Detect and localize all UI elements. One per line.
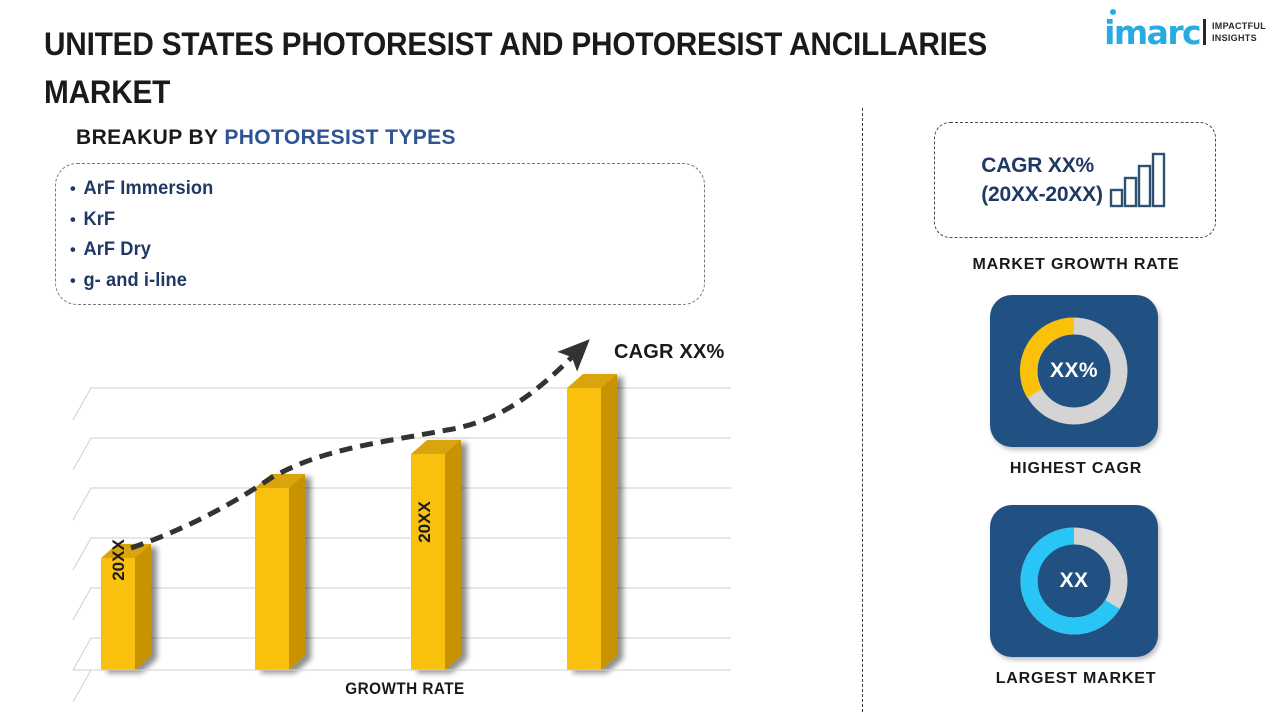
bar-label-3: 20XX xyxy=(109,539,128,581)
page-title: UNITED STATES PHOTORESIST AND PHOTORESIS… xyxy=(44,20,1011,116)
bar-label-4: 20XX xyxy=(415,501,434,543)
bar-3 xyxy=(411,440,461,670)
bar-2 xyxy=(255,474,305,670)
infographic-page: UNITED STATES PHOTORESIST AND PHOTORESIS… xyxy=(0,0,1280,720)
logo-tagline: IMPACTFUL INSIGHTS xyxy=(1212,20,1266,44)
bullet-icon: • xyxy=(70,235,83,266)
growth-bar-chart: 20XX 20XX xyxy=(55,330,755,720)
chart-gridlines xyxy=(73,388,731,702)
breakup-heading-accent: PHOTORESIST TYPES xyxy=(224,126,456,149)
logo-divider xyxy=(1203,19,1206,45)
breakup-list: •ArF Immersion •KrF •ArF Dry •g- and i-l… xyxy=(70,174,670,296)
list-item-label: ArF Dry xyxy=(83,239,151,260)
breakup-heading-prefix: BREAKUP BY xyxy=(76,126,224,149)
bar-4 xyxy=(567,374,617,670)
list-item-label: g- and i-line xyxy=(83,270,187,291)
list-item: •ArF Dry xyxy=(70,235,646,266)
list-item: •g- and i-line xyxy=(70,266,646,297)
imarc-logo: imarc IMPACTFUL INSIGHTS xyxy=(1104,12,1266,52)
logo-dot-icon xyxy=(1110,9,1116,15)
chart-canvas: 20XX 20XX xyxy=(55,330,755,720)
chart-bars xyxy=(101,374,617,670)
cagr-trend-line xyxy=(131,354,575,548)
bullet-icon: • xyxy=(70,266,83,297)
caption-highest-cagr: HIGHEST CAGR xyxy=(906,460,1246,478)
list-item: •KrF xyxy=(70,205,646,236)
logo-tagline-line1: IMPACTFUL xyxy=(1212,20,1266,32)
donut-value-largest-market: XX xyxy=(990,505,1158,657)
cagr-card-text: CAGR XX% (20XX-20XX) xyxy=(981,151,1103,209)
market-growth-rate-card: CAGR XX% (20XX-20XX) xyxy=(934,122,1216,238)
largest-market-card: XX xyxy=(990,505,1158,657)
donut-value-highest-cagr: XX% xyxy=(990,295,1158,447)
cagr-card-line1: CAGR XX% xyxy=(981,151,1103,180)
highest-cagr-card: XX% xyxy=(990,295,1158,447)
logo-tagline-line2: INSIGHTS xyxy=(1212,32,1266,44)
list-item-label: KrF xyxy=(83,209,115,230)
caption-market-growth-rate: MARKET GROWTH RATE xyxy=(906,256,1246,274)
caption-largest-market: LARGEST MARKET xyxy=(906,670,1246,688)
cagr-card-line2: (20XX-20XX) xyxy=(981,180,1103,209)
bar-chart-icon xyxy=(1109,152,1169,208)
bullet-icon: • xyxy=(70,174,83,205)
bullet-icon: • xyxy=(70,205,83,236)
panel-divider xyxy=(862,108,863,712)
list-item: •ArF Immersion xyxy=(70,174,646,205)
breakup-heading: BREAKUP BY PHOTORESIST TYPES xyxy=(76,126,456,150)
logo-wordmark: imarc xyxy=(1104,16,1200,49)
list-item-label: ArF Immersion xyxy=(83,178,213,199)
chart-x-axis-label: GROWTH RATE xyxy=(90,679,720,699)
cagr-annotation-label: CAGR XX% xyxy=(614,341,725,364)
